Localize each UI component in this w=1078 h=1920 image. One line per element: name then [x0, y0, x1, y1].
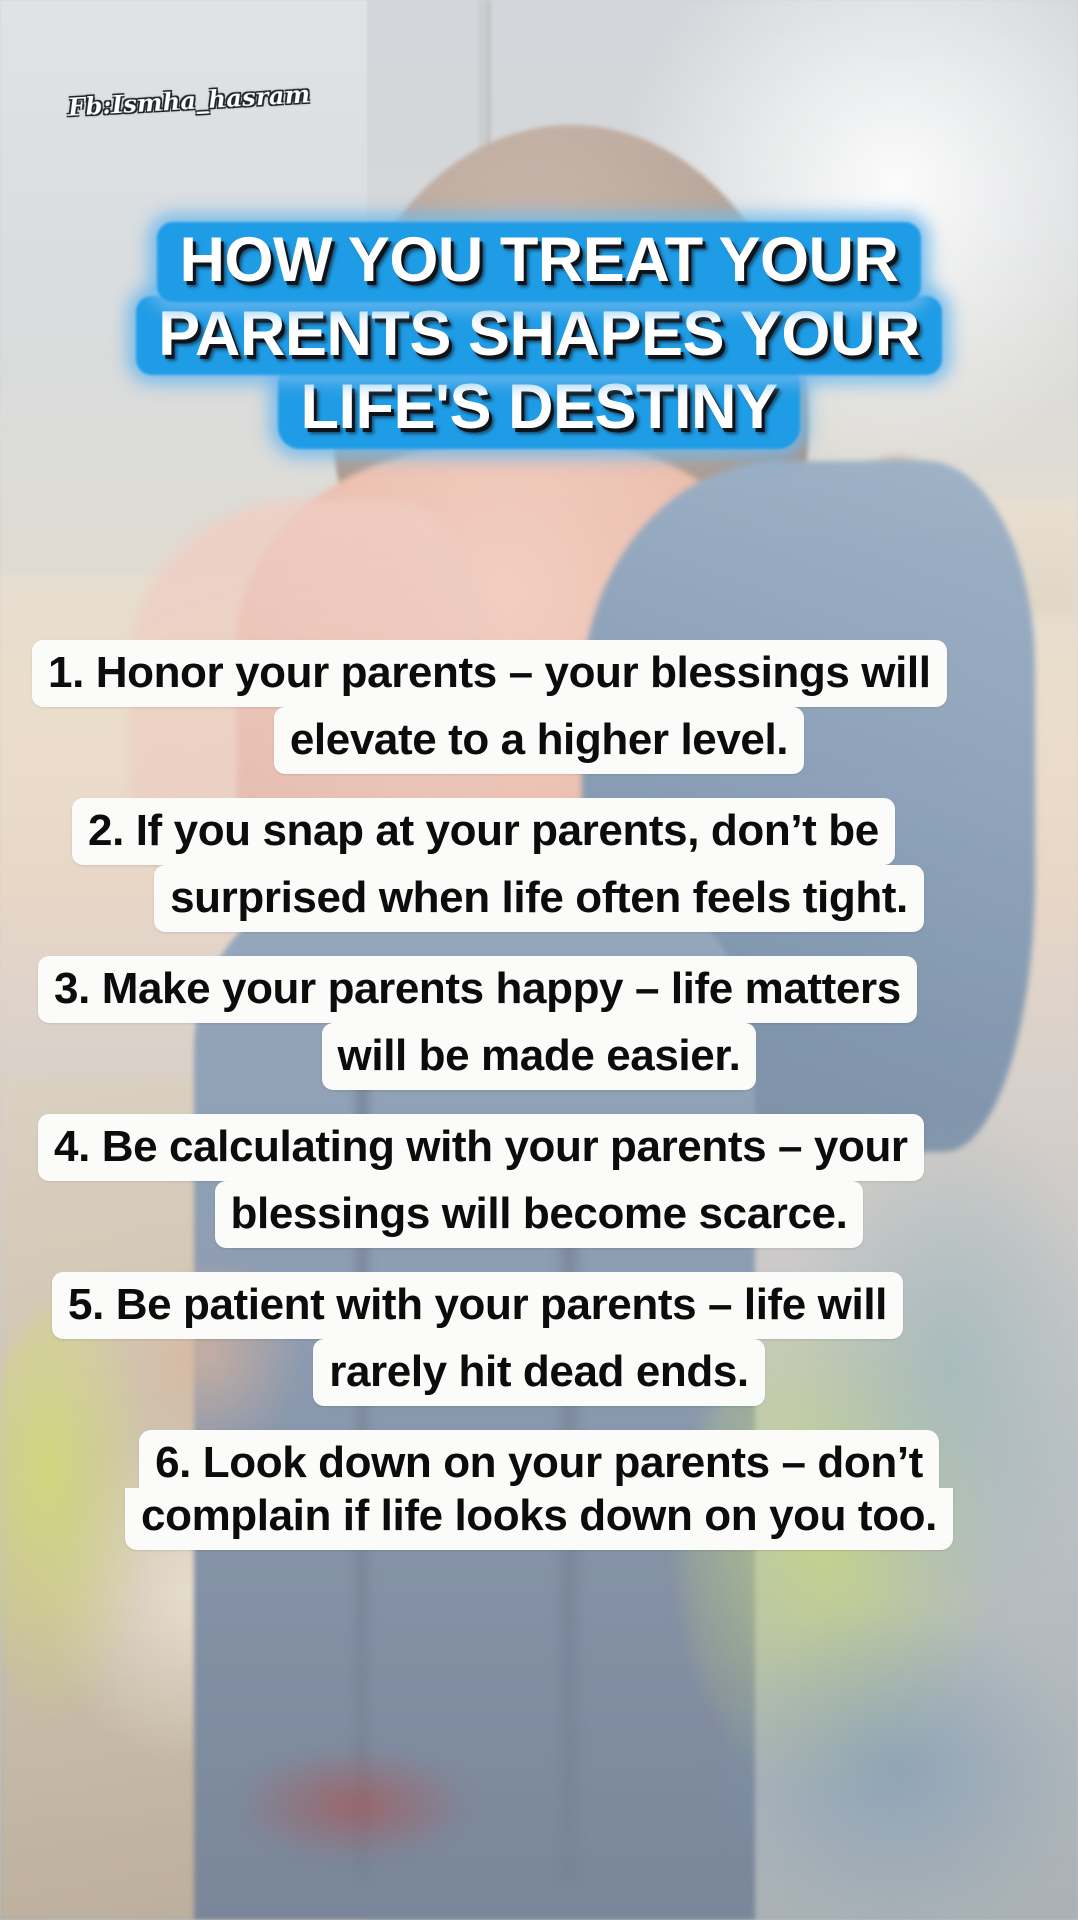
list-item-line-2: will be made easier. — [322, 1023, 757, 1090]
list-item-line-1: 1. Honor your parents – your blessings w… — [32, 640, 947, 707]
list-item-line-2: rarely hit dead ends. — [313, 1339, 765, 1406]
list-item-line-1: 2. If you snap at your parents, don’t be — [72, 798, 895, 865]
list-item-line-2: blessings will become scarce. — [215, 1181, 864, 1248]
headline-line-3: LIFE'S DESTINY — [278, 369, 799, 449]
list-item: 3. Make your parents happy – life matter… — [0, 956, 1078, 1090]
advice-list: 1. Honor your parents – your blessings w… — [0, 640, 1078, 1574]
list-item: 2. If you snap at your parents, don’t be… — [0, 798, 1078, 932]
headline: HOW YOU TREAT YOUR PARENTS SHAPES YOUR L… — [0, 222, 1078, 449]
list-item-line-1: 3. Make your parents happy – life matter… — [38, 956, 917, 1023]
poster-canvas: Fb:Ismha_hasram HOW YOU TREAT YOUR PAREN… — [0, 0, 1078, 1920]
list-item-line-2: elevate to a higher level. — [274, 707, 804, 774]
list-item-line-2: complain if life looks down on you too. — [125, 1488, 953, 1550]
list-item: 4. Be calculating with your parents – yo… — [0, 1114, 1078, 1248]
headline-line-2: PARENTS SHAPES YOUR — [136, 296, 942, 376]
list-item: 6. Look down on your parents – don’t com… — [0, 1430, 1078, 1550]
list-item-line-1: 5. Be patient with your parents – life w… — [52, 1272, 903, 1339]
list-item-line-1: 4. Be calculating with your parents – yo… — [38, 1114, 924, 1181]
list-item-line-1: 6. Look down on your parents – don’t — [139, 1430, 939, 1488]
list-item-line-2: surprised when life often feels tight. — [154, 865, 924, 932]
headline-line-1: HOW YOU TREAT YOUR — [157, 222, 920, 302]
list-item: 1. Honor your parents – your blessings w… — [0, 640, 1078, 774]
list-item: 5. Be patient with your parents – life w… — [0, 1272, 1078, 1406]
